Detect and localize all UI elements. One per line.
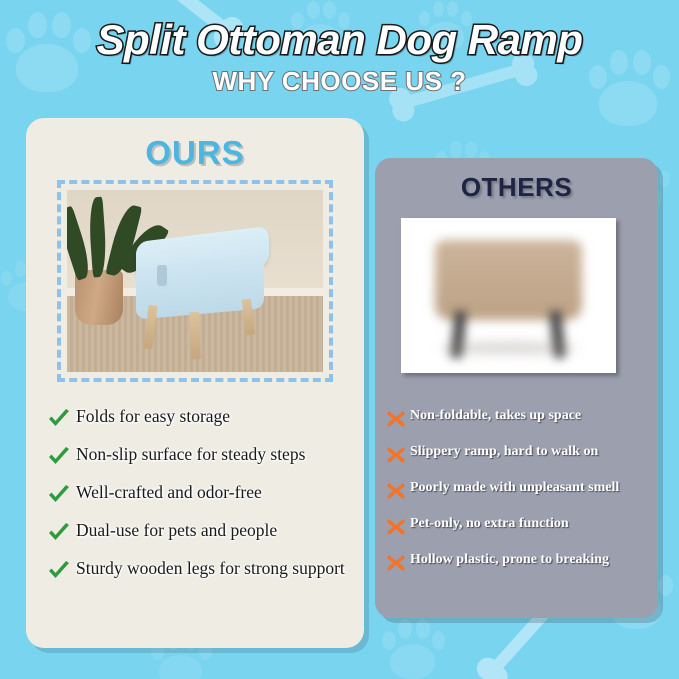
ours-photo-frame (57, 180, 333, 382)
ottoman-pull-tab (157, 265, 167, 287)
ours-panel: OURS (26, 118, 364, 648)
list-item-label: Hollow plastic, prone to breaking (410, 552, 609, 568)
ours-heading: OURS (26, 118, 364, 172)
green-check-icon (46, 560, 72, 582)
list-item: Dual-use for pets and people (46, 520, 356, 544)
list-item-label: Sturdy wooden legs for strong support (76, 558, 345, 579)
list-item: Non-foldable, takes up space (385, 408, 653, 429)
list-item-label: Pet-only, no extra function (410, 516, 569, 532)
orange-x-icon (385, 445, 407, 465)
others-panel: OTHERS Non-foldable, takes up space Sl (375, 158, 658, 618)
list-item-label: Folds for easy storage (76, 406, 230, 427)
list-item-label: Poorly made with unpleasant smell (410, 480, 619, 496)
orange-x-icon (385, 517, 407, 537)
infographic-canvas: Split Ottoman Dog Ramp WHY CHOOSE US ? O… (0, 0, 679, 679)
green-check-icon (46, 522, 72, 544)
list-item: Slippery ramp, hard to walk on (385, 444, 653, 465)
list-item: Sturdy wooden legs for strong support (46, 558, 356, 582)
ours-feature-list: Folds for easy storage Non-slip surface … (46, 406, 356, 596)
page-title: Split Ottoman Dog Ramp (0, 0, 679, 64)
competitor-ottoman (435, 240, 581, 321)
list-item-label: Dual-use for pets and people (76, 520, 277, 541)
orange-x-icon (385, 481, 407, 501)
others-heading: OTHERS (375, 158, 658, 203)
others-drawback-list: Non-foldable, takes up space Slippery ra… (385, 408, 653, 588)
list-item: Well-crafted and odor-free (46, 482, 356, 506)
orange-x-icon (385, 553, 407, 573)
page-subtitle: WHY CHOOSE US ? (0, 66, 679, 97)
list-item: Poorly made with unpleasant smell (385, 480, 653, 501)
green-check-icon (46, 408, 72, 430)
ours-product-photo (67, 190, 323, 372)
green-check-icon (46, 484, 72, 506)
list-item-label: Non-foldable, takes up space (410, 408, 581, 424)
orange-x-icon (385, 409, 407, 429)
list-item: Non-slip surface for steady steps (46, 444, 356, 468)
list-item: Folds for easy storage (46, 406, 356, 430)
others-product-photo (401, 218, 616, 373)
list-item-label: Slippery ramp, hard to walk on (410, 444, 598, 460)
list-item: Hollow plastic, prone to breaking (385, 552, 653, 573)
header: Split Ottoman Dog Ramp WHY CHOOSE US ? (0, 0, 679, 97)
list-item-label: Well-crafted and odor-free (76, 482, 262, 503)
list-item: Pet-only, no extra function (385, 516, 653, 537)
paw-print-icon (380, 618, 448, 679)
green-check-icon (46, 446, 72, 468)
list-item-label: Non-slip surface for steady steps (76, 444, 305, 465)
